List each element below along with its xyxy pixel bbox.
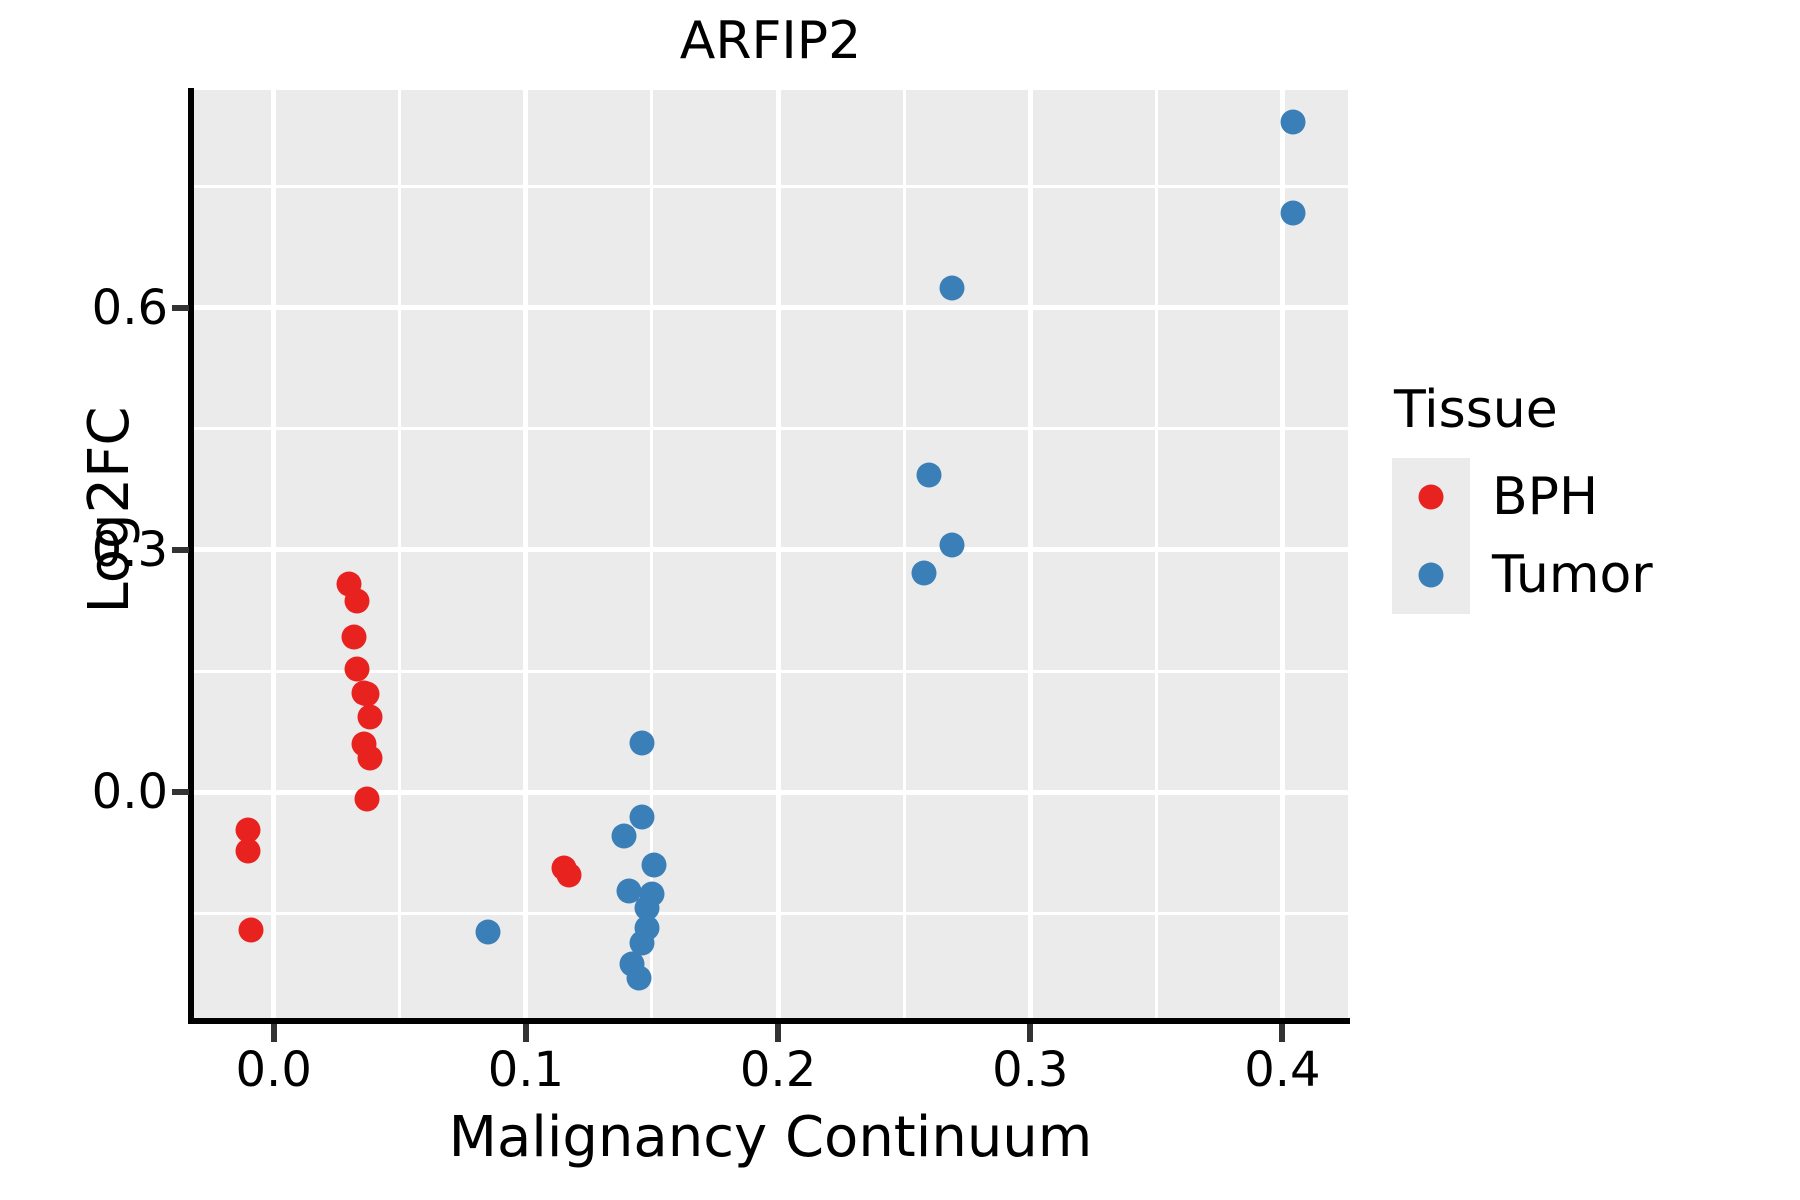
data-point-tumor [629, 730, 654, 755]
page-title: ARFIP2 [193, 10, 1348, 72]
plot-panel [193, 90, 1348, 1018]
data-point-bph [355, 682, 380, 707]
data-point-tumor [940, 275, 965, 300]
data-point-bph [344, 656, 369, 681]
gridline-major-vertical [776, 90, 781, 1018]
legend-item-label: BPH [1492, 467, 1598, 527]
data-point-bph [239, 918, 264, 943]
x-tick-mark [1279, 1024, 1285, 1042]
data-point-bph [344, 588, 369, 613]
x-tick-label: 0.4 [1202, 1046, 1362, 1094]
gridline-major-horizontal [193, 305, 1348, 310]
legend-dot-icon [1419, 563, 1444, 588]
data-point-bph [342, 625, 367, 650]
gridline-major-horizontal [193, 547, 1348, 552]
data-point-tumor [917, 462, 942, 487]
data-point-bph [357, 705, 382, 730]
gridline-major-vertical [523, 90, 528, 1018]
data-point-tumor [912, 561, 937, 586]
data-point-tumor [1280, 110, 1305, 135]
x-tick-label: 0.2 [698, 1046, 858, 1094]
legend-dot-icon [1419, 485, 1444, 510]
y-tick-mark [172, 547, 189, 553]
y-axis-title: Log2FC [80, 200, 140, 820]
x-axis-title: Malignancy Continuum [193, 1108, 1348, 1168]
gridline-minor-horizontal [193, 427, 1348, 430]
x-tick-label: 0.1 [446, 1046, 606, 1094]
x-tick-mark [271, 1024, 277, 1042]
legend-item-label: Tumor [1492, 545, 1653, 605]
data-point-tumor [627, 965, 652, 990]
y-axis-line [188, 88, 194, 1022]
gridline-major-vertical [1028, 90, 1033, 1018]
x-axis-line [188, 1018, 1350, 1024]
y-tick-mark [172, 305, 189, 311]
chart-root: ARFIP2 0.00.30.6 0.00.10.20.30.4 Log2FC … [0, 0, 1800, 1200]
data-point-tumor [1280, 200, 1305, 225]
data-point-bph [556, 863, 581, 888]
data-point-tumor [612, 824, 637, 849]
data-point-tumor [629, 805, 654, 830]
legend-key-swatch [1392, 536, 1470, 614]
gridline-minor-vertical [650, 90, 653, 1018]
gridline-minor-vertical [398, 90, 401, 1018]
legend-key-swatch [1392, 458, 1470, 536]
data-point-tumor [642, 853, 667, 878]
legend: Tissue BPHTumor [1392, 380, 1772, 614]
gridline-major-vertical [1280, 90, 1285, 1018]
gridline-major-vertical [271, 90, 276, 1018]
x-tick-mark [1027, 1024, 1033, 1042]
gridline-minor-horizontal [193, 185, 1348, 188]
x-tick-label: 0.3 [950, 1046, 1110, 1094]
data-point-bph [357, 746, 382, 771]
x-tick-mark [775, 1024, 781, 1042]
gridline-minor-horizontal [193, 912, 1348, 915]
legend-item-bph[interactable]: BPH [1392, 458, 1772, 536]
data-point-tumor [476, 920, 501, 945]
gridline-minor-vertical [1155, 90, 1158, 1018]
gridline-minor-vertical [903, 90, 906, 1018]
data-point-bph [236, 838, 261, 863]
legend-item-tumor[interactable]: Tumor [1392, 536, 1772, 614]
data-point-bph [355, 787, 380, 812]
legend-title: Tissue [1394, 380, 1772, 440]
x-tick-mark [523, 1024, 529, 1042]
legend-items: BPHTumor [1392, 458, 1772, 614]
data-point-tumor [940, 533, 965, 558]
y-tick-mark [172, 789, 189, 795]
x-tick-label: 0.0 [194, 1046, 354, 1094]
